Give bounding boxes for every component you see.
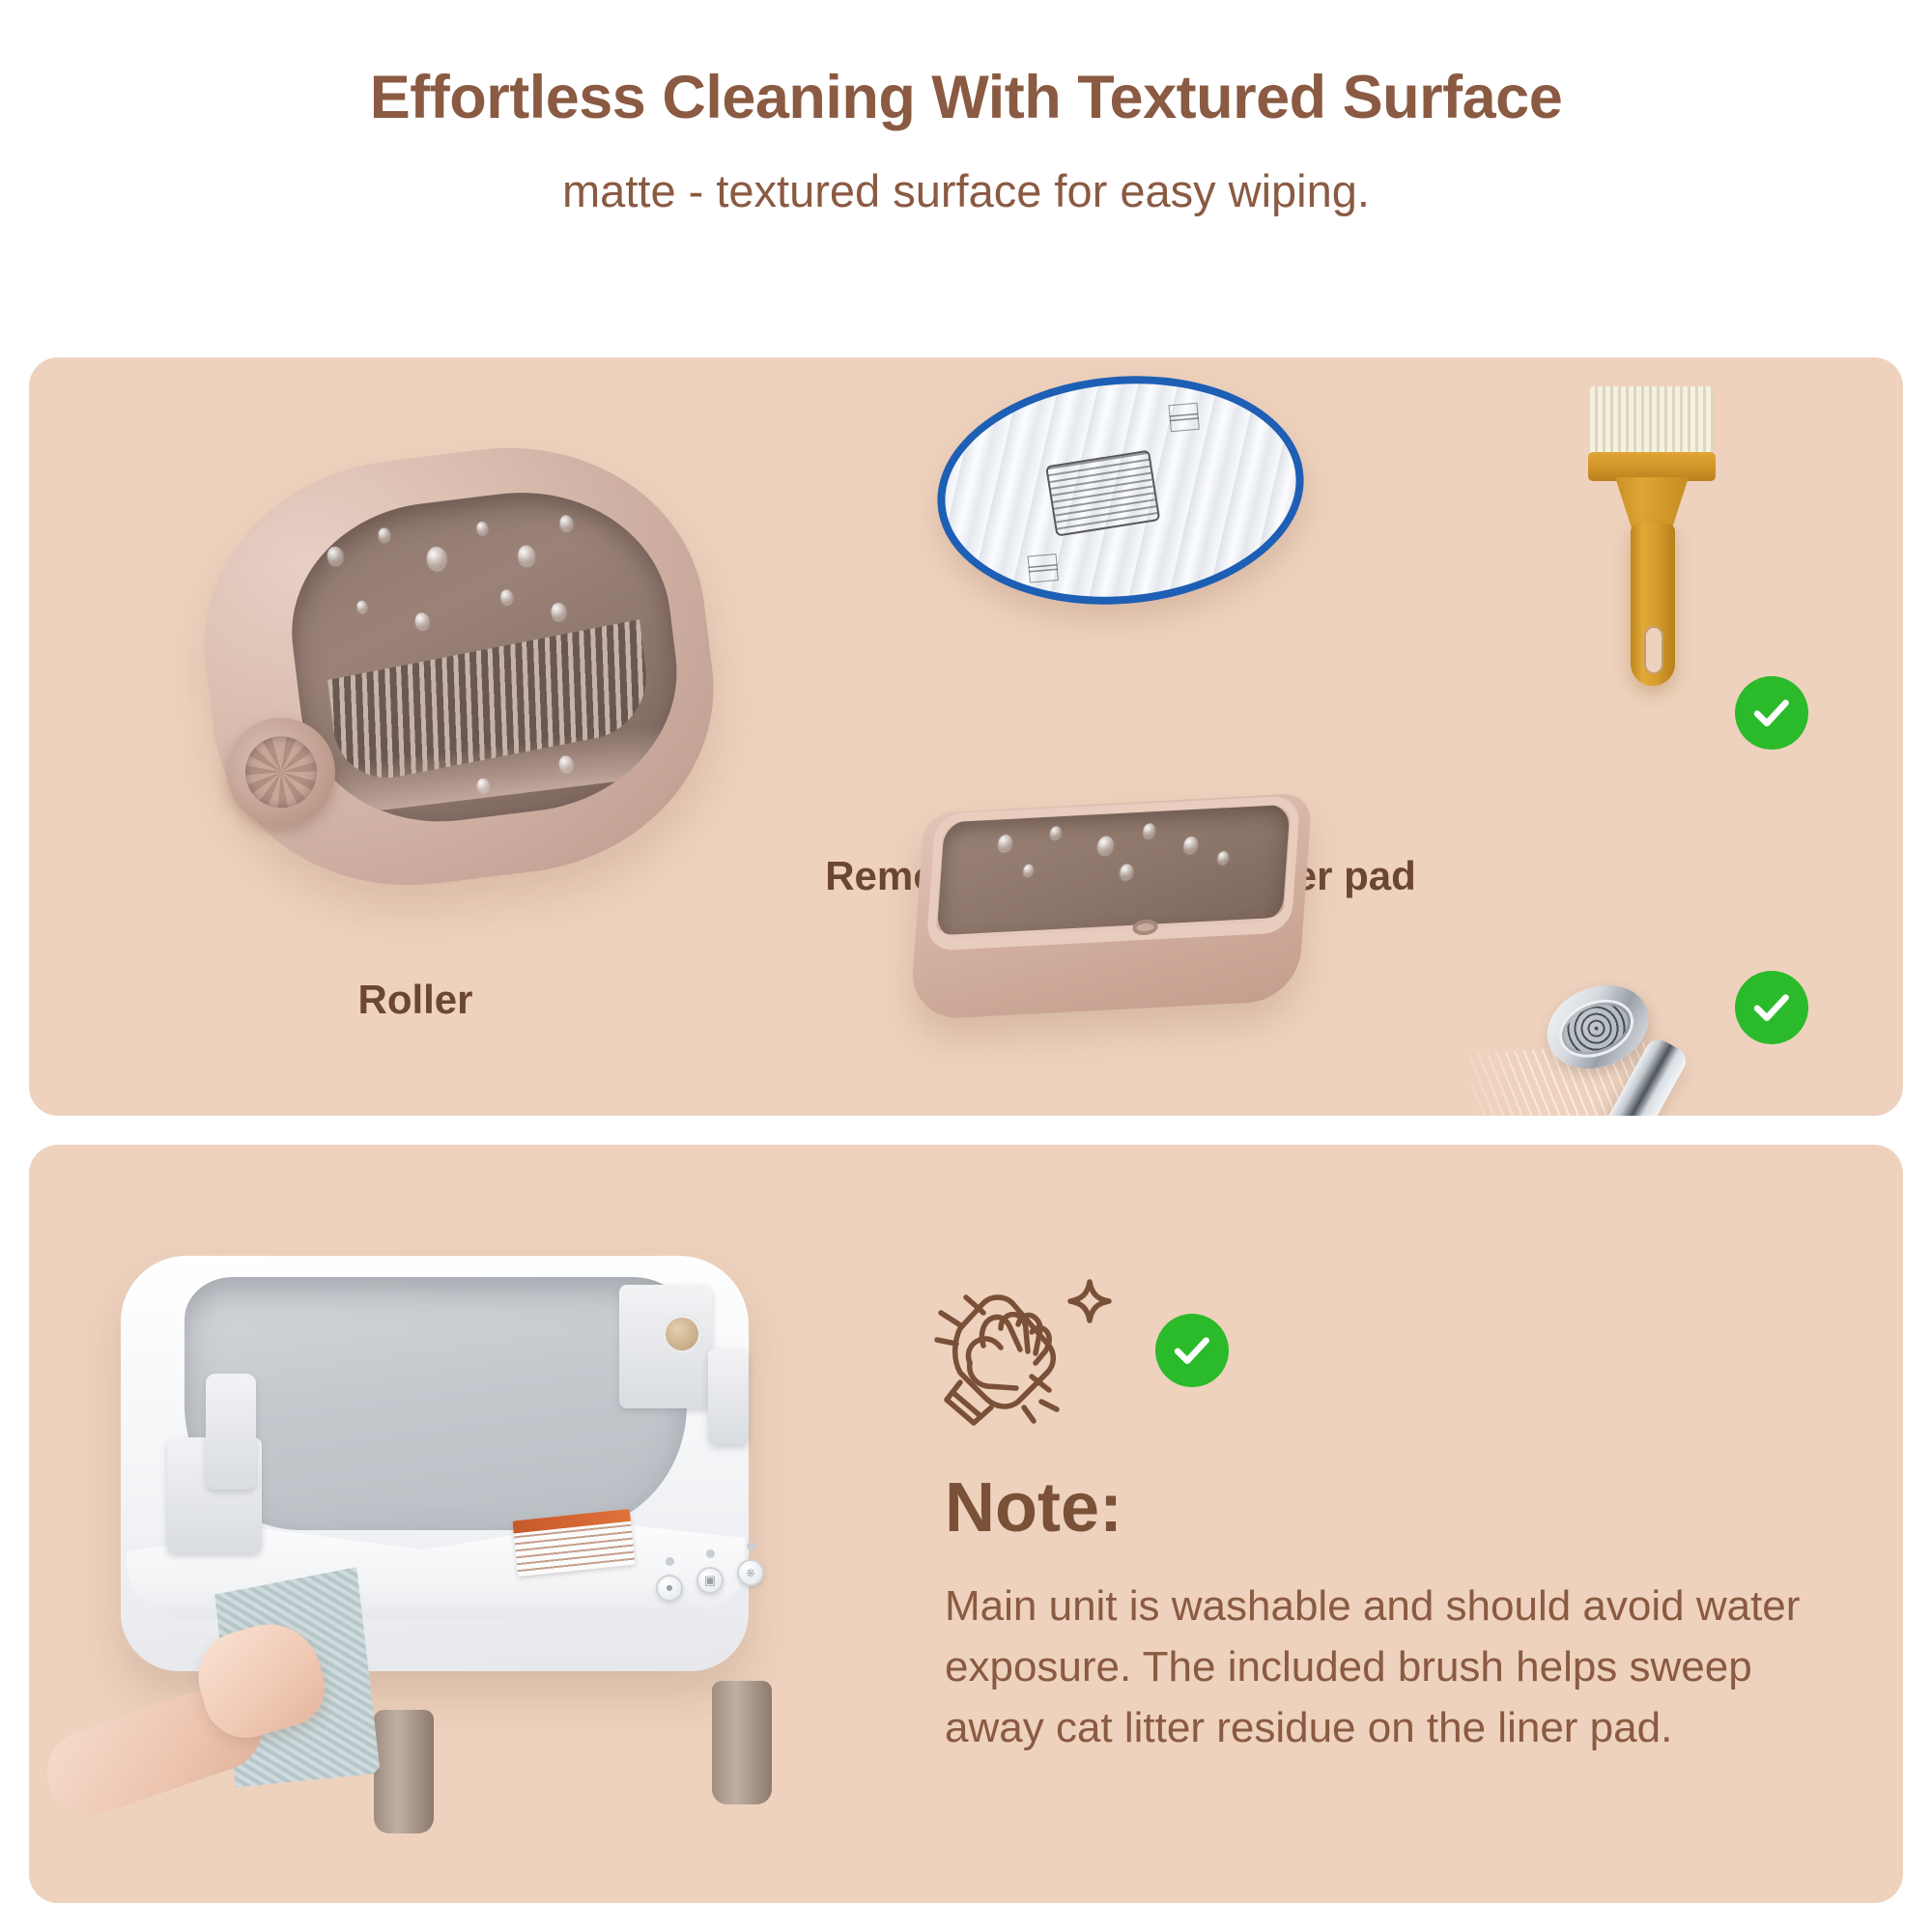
max-fill-mark	[1028, 554, 1059, 583]
brush-hang-hole	[1644, 626, 1663, 674]
mode-button[interactable]: ▣	[696, 1567, 724, 1594]
unit-hinge	[206, 1374, 256, 1490]
page-subtitle: matte - textured surface for easy wiping…	[0, 165, 1932, 217]
bin-body	[909, 793, 1312, 1021]
roller-body	[184, 425, 734, 908]
water-drop	[426, 546, 448, 571]
waste-bin-image	[898, 787, 1333, 1038]
water-drop	[327, 546, 344, 566]
roller-cavity	[277, 475, 692, 838]
bin-rim	[925, 795, 1300, 951]
cleaning-brush-image	[1575, 386, 1777, 724]
unit-hinge	[708, 1349, 749, 1445]
status-led	[747, 1542, 755, 1550]
wifi-button[interactable]: ⏺	[656, 1575, 683, 1602]
liner-pad-rim	[927, 361, 1313, 619]
status-led	[666, 1557, 674, 1566]
note-body: Main unit is washable and should avoid w…	[945, 1577, 1814, 1759]
unit-dial	[662, 1314, 702, 1354]
infographic-page: Effortless Cleaning With Textured Surfac…	[0, 0, 1932, 1932]
care-label	[1045, 450, 1160, 538]
note-title: Note:	[945, 1468, 1122, 1548]
hand-wiping-cloth-icon	[927, 1270, 1140, 1444]
water-drop	[559, 514, 574, 530]
water-drop	[378, 527, 391, 542]
brush-bristles	[1590, 386, 1714, 456]
water-drop	[476, 522, 489, 535]
liner-pad-image	[918, 357, 1323, 647]
water-drop	[414, 612, 430, 631]
caption-roller: Roller	[222, 976, 609, 1024]
water-drop	[517, 545, 535, 567]
hand-with-cloth	[63, 1563, 353, 1853]
brush-neck	[1615, 477, 1689, 527]
check-badge-brush	[1735, 676, 1808, 750]
status-led	[706, 1549, 715, 1558]
water-drop	[499, 589, 513, 605]
roller-drum-image	[184, 386, 734, 966]
power-button[interactable]: ⎈	[737, 1559, 764, 1586]
water-drop	[356, 601, 367, 613]
main-unit-wipe-photo: ⏺ ▣ ⎈	[63, 1198, 855, 1874]
page-title: Effortless Cleaning With Textured Surfac…	[0, 64, 1932, 132]
liner-pad-surface	[936, 370, 1305, 611]
brush-ferrule	[1588, 452, 1716, 481]
max-fill-mark	[1169, 403, 1200, 433]
check-badge-wipe	[1155, 1314, 1229, 1387]
unit-leg	[712, 1681, 772, 1804]
water-drop	[551, 602, 567, 621]
header: Effortless Cleaning With Textured Surfac…	[0, 0, 1932, 217]
unit-leg	[374, 1710, 434, 1833]
check-badge-shower	[1735, 971, 1808, 1044]
